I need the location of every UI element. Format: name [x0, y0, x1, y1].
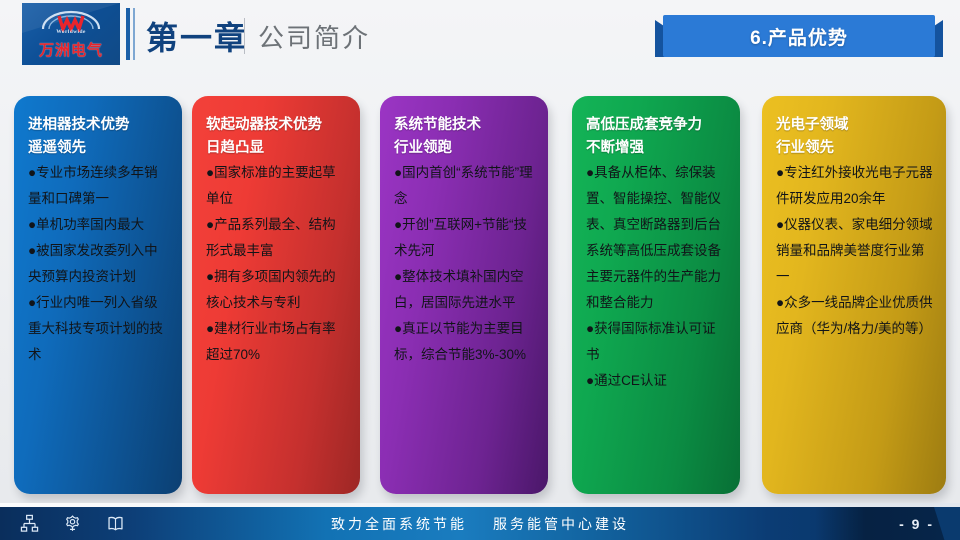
advantage-card-list: 进相器技术优势 遥遥领先 ●专业市场连续多年销量和口碑第一 ●单机功率国内最大 … — [0, 96, 960, 496]
card-title-line1: 进相器技术优势 — [28, 117, 130, 133]
page-number: - 9 - — [899, 507, 934, 540]
card-bullet-list: ●专注红外接收光电子元器件研发应用20余年 ●仪器仪表、家电细分领域销量和品牌美… — [776, 160, 934, 342]
card-bullet-list: ●国内首创“系统节能”理念 ●开创”互联网+节能“技术先河 ●整体技术填补国内空… — [394, 160, 536, 368]
card-bullet: ●专业市场连续多年销量和口碑第一 — [28, 160, 170, 212]
footer-slogan-left: 致力全面系统节能 — [331, 514, 467, 534]
card-bullet: ●产品系列最全、结构形式最丰富 — [206, 212, 348, 264]
card-bullet: ●拥有多项国内领先的核心技术与专利 — [206, 264, 348, 316]
header-accent-bar-thin — [133, 8, 135, 60]
slide-root: Worldwide 万洲电气 第一章 公司简介 6.产品优势 进相器技术优势 遥… — [0, 0, 960, 540]
chapter-title: 第一章 — [146, 13, 248, 59]
card-bullet: ●国内首创“系统节能”理念 — [394, 160, 536, 212]
card-bullet: ●国家标准的主要起草单位 — [206, 160, 348, 212]
banner-title: 6.产品优势 — [750, 23, 848, 50]
advantage-card-soft-starter[interactable]: 软起动器技术优势 日趋凸显 ●国家标准的主要起草单位 ●产品系列最全、结构形式最… — [192, 96, 360, 494]
card-title-line2: 行业领跑 — [394, 140, 452, 156]
card-title-line2: 日趋凸显 — [206, 140, 264, 156]
card-bullet: ●具备从柜体、综保装置、智能操控、智能仪表、真空断路器到后台系统等高低压成套设备… — [586, 160, 728, 316]
logo-english-text: Worldwide — [22, 29, 120, 35]
card-title-line1: 软起动器技术优势 — [206, 117, 322, 133]
banner-body: 6.产品优势 — [663, 15, 935, 57]
card-bullet: ●专注红外接收光电子元器件研发应用20余年 — [776, 160, 934, 212]
slide-header: Worldwide 万洲电气 第一章 公司简介 6.产品优势 — [0, 0, 960, 74]
header-accent-bar — [126, 8, 130, 60]
card-bullet-list: ●专业市场连续多年销量和口碑第一 ●单机功率国内最大 ●被国家发改委列入中央预算… — [28, 160, 170, 368]
card-bullet: ●开创”互联网+节能“技术先河 — [394, 212, 536, 264]
advantage-card-optoelectronics[interactable]: 光电子领域 行业领先 ●专注红外接收光电子元器件研发应用20余年 ●仪器仪表、家… — [762, 96, 946, 494]
card-title-line1: 系统节能技术 — [394, 117, 481, 133]
card-title-line1: 高低压成套竞争力 — [586, 117, 702, 133]
card-bullet: ●整体技术填补国内空白，居国际先进水平 — [394, 264, 536, 316]
card-bullet-list: ●国家标准的主要起草单位 ●产品系列最全、结构形式最丰富 ●拥有多项国内领先的核… — [206, 160, 348, 368]
card-bullet: ●获得国际标准认可证书 — [586, 316, 728, 368]
card-title-line2: 行业领先 — [776, 140, 834, 156]
card-bullet: ●众多一线品牌企业优质供应商（华为/格力/美的等） — [776, 290, 934, 342]
card-bullet: ●行业内唯一列入省级重大科技专项计划的技术 — [28, 290, 170, 368]
card-bullet: ●单机功率国内最大 — [28, 212, 170, 238]
card-title-line1: 光电子领域 — [776, 117, 849, 133]
card-title-line2: 不断增强 — [586, 140, 644, 156]
section-banner: 6.产品优势 — [655, 15, 943, 57]
card-title-line2: 遥遥领先 — [28, 140, 86, 156]
card-bullet-list: ●具备从柜体、综保装置、智能操控、智能仪表、真空断路器到后台系统等高低压成套设备… — [586, 160, 728, 394]
logo-chinese-text: 万洲电气 — [22, 39, 120, 60]
advantage-card-hv-lv-switchgear[interactable]: 高低压成套竞争力 不断增强 ●具备从柜体、综保装置、智能操控、智能仪表、真空断路… — [572, 96, 740, 494]
slide-footer: 致力全面系统节能 服务能管中心建设 - 9 - — [0, 507, 960, 540]
company-logo: Worldwide 万洲电气 — [22, 3, 120, 65]
card-bullet: ●真正以节能为主要目标，综合节能3%-30% — [394, 316, 536, 368]
advantage-card-phase-shifter[interactable]: 进相器技术优势 遥遥领先 ●专业市场连续多年销量和口碑第一 ●单机功率国内最大 … — [14, 96, 182, 494]
page-subtitle: 公司简介 — [258, 18, 370, 55]
advantage-card-system-energy-saving[interactable]: 系统节能技术 行业领跑 ●国内首创“系统节能”理念 ●开创”互联网+节能“技术先… — [380, 96, 548, 494]
footer-slogan-right: 服务能管中心建设 — [493, 514, 629, 534]
card-bullet: ●被国家发改委列入中央预算内投资计划 — [28, 238, 170, 290]
card-bullet: ●仪器仪表、家电细分领域销量和品牌美誉度行业第一 — [776, 212, 934, 290]
card-bullet: ●通过CE认证 — [586, 368, 728, 394]
card-bullet: ●建材行业市场占有率超过70% — [206, 316, 348, 368]
header-divider — [244, 18, 245, 54]
